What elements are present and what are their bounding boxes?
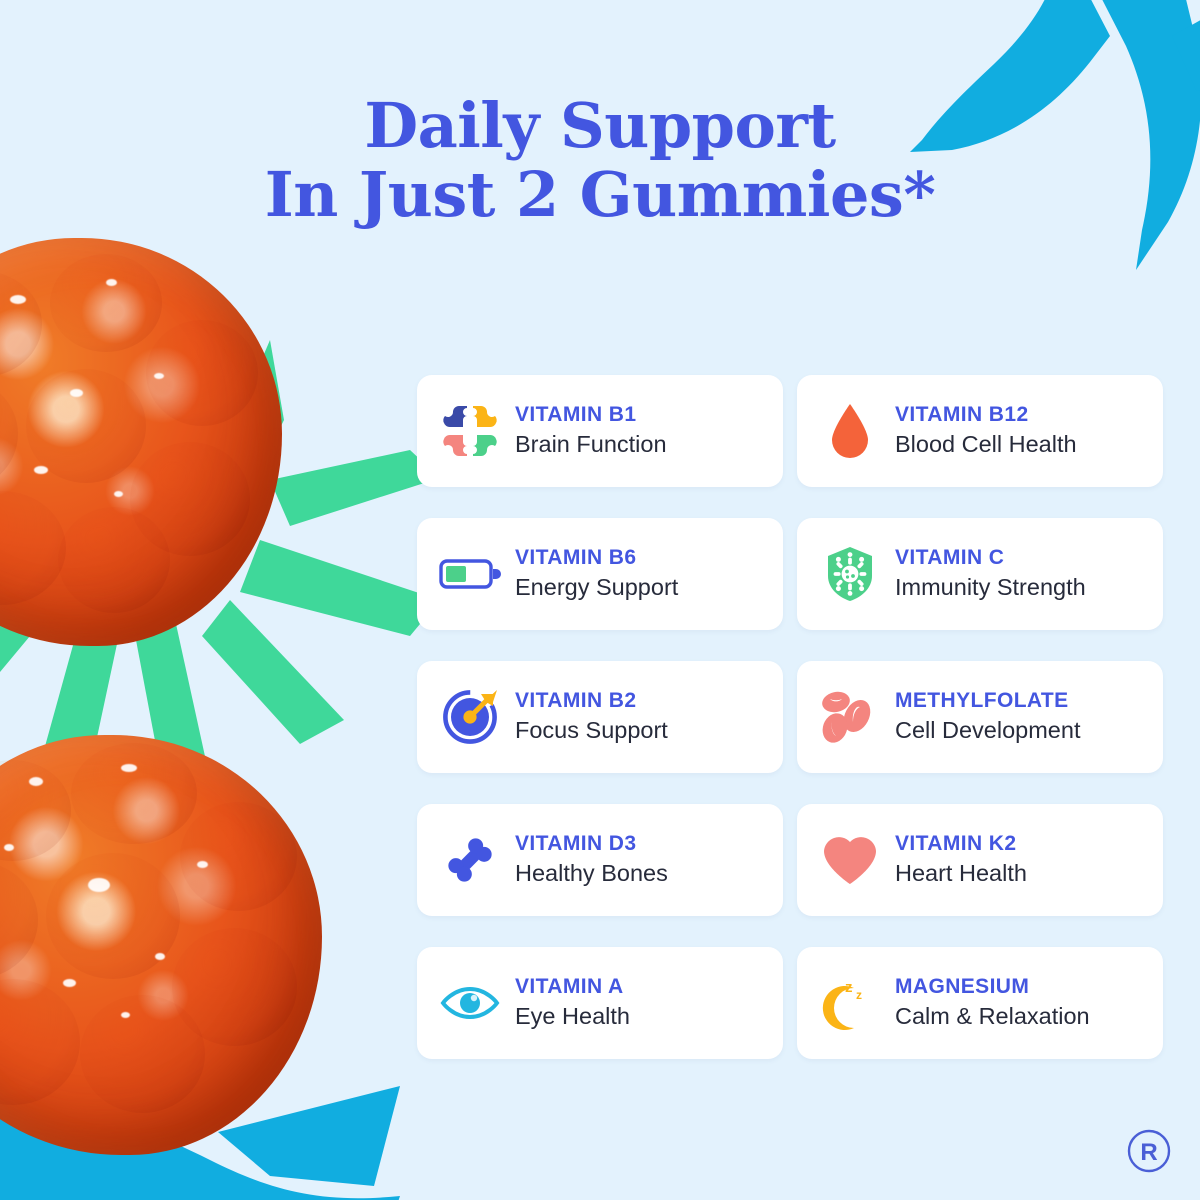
- target-arrow-icon: [439, 686, 501, 748]
- svg-text:z: z: [845, 979, 853, 996]
- nutrient-benefit: Focus Support: [515, 715, 668, 746]
- headline-line-2: In Just 2 Gummies*: [0, 165, 1200, 226]
- moon-sleep-icon: z z: [819, 972, 881, 1034]
- nutrient-card-vitamin-c[interactable]: VITAMIN C Immunity Strength: [797, 518, 1163, 630]
- nutrient-card-vitamin-b2[interactable]: VITAMIN B2 Focus Support: [417, 661, 783, 773]
- gummy-upper: [0, 238, 282, 646]
- nutrient-name: VITAMIN B1: [515, 402, 667, 428]
- nutrient-name: VITAMIN A: [515, 974, 630, 1000]
- nutrient-card-vitamin-d3[interactable]: VITAMIN D3 Healthy Bones: [417, 804, 783, 916]
- nutrient-name: VITAMIN D3: [515, 831, 668, 857]
- nutrient-benefit: Heart Health: [895, 858, 1027, 889]
- nutrient-name: VITAMIN K2: [895, 831, 1027, 857]
- page-title: Daily Support In Just 2 Gummies*: [0, 96, 1200, 226]
- nutrient-card-vitamin-b1[interactable]: VITAMIN B1 Brain Function: [417, 375, 783, 487]
- battery-icon: [439, 543, 501, 605]
- shield-virus-icon: [819, 543, 881, 605]
- nutrient-card-grid: VITAMIN B1 Brain Function VITAMIN B12 Bl…: [417, 375, 1167, 1059]
- nutrient-name: MAGNESIUM: [895, 974, 1090, 1000]
- eye-icon: [439, 972, 501, 1034]
- bone-icon: [439, 829, 501, 891]
- registered-trademark-badge: R: [1126, 1128, 1172, 1174]
- gummy-lower: [0, 735, 322, 1155]
- nutrient-benefit: Blood Cell Health: [895, 429, 1077, 460]
- cyan-splash-bottom-left-icon: [0, 990, 400, 1200]
- nutrient-name: VITAMIN C: [895, 545, 1086, 571]
- blood-cells-icon: [819, 686, 881, 748]
- nutrient-card-vitamin-k2[interactable]: VITAMIN K2 Heart Health: [797, 804, 1163, 916]
- blood-drop-icon: [819, 400, 881, 462]
- heart-icon: [819, 829, 881, 891]
- svg-text:z: z: [856, 988, 862, 1002]
- nutrient-benefit: Cell Development: [895, 715, 1080, 746]
- brain-puzzle-icon: [439, 400, 501, 462]
- nutrient-benefit: Healthy Bones: [515, 858, 668, 889]
- headline-line-1: Daily Support: [0, 96, 1200, 157]
- nutrient-benefit: Immunity Strength: [895, 572, 1086, 603]
- green-leaf-cluster-icon: [0, 300, 460, 820]
- nutrient-card-magnesium[interactable]: z z MAGNESIUM Calm & Relaxation: [797, 947, 1163, 1059]
- nutrient-benefit: Eye Health: [515, 1001, 630, 1032]
- nutrient-name: VITAMIN B12: [895, 402, 1077, 428]
- nutrient-benefit: Calm & Relaxation: [895, 1001, 1090, 1032]
- trademark-letter: R: [1140, 1139, 1157, 1166]
- nutrient-benefit: Energy Support: [515, 572, 678, 603]
- nutrient-card-vitamin-a[interactable]: VITAMIN A Eye Health: [417, 947, 783, 1059]
- nutrient-name: VITAMIN B6: [515, 545, 678, 571]
- nutrient-benefit: Brain Function: [515, 429, 667, 460]
- nutrient-card-vitamin-b6[interactable]: VITAMIN B6 Energy Support: [417, 518, 783, 630]
- nutrient-name: METHYLFOLATE: [895, 688, 1080, 714]
- nutrient-name: VITAMIN B2: [515, 688, 668, 714]
- nutrient-card-methylfolate[interactable]: METHYLFOLATE Cell Development: [797, 661, 1163, 773]
- nutrient-card-vitamin-b12[interactable]: VITAMIN B12 Blood Cell Health: [797, 375, 1163, 487]
